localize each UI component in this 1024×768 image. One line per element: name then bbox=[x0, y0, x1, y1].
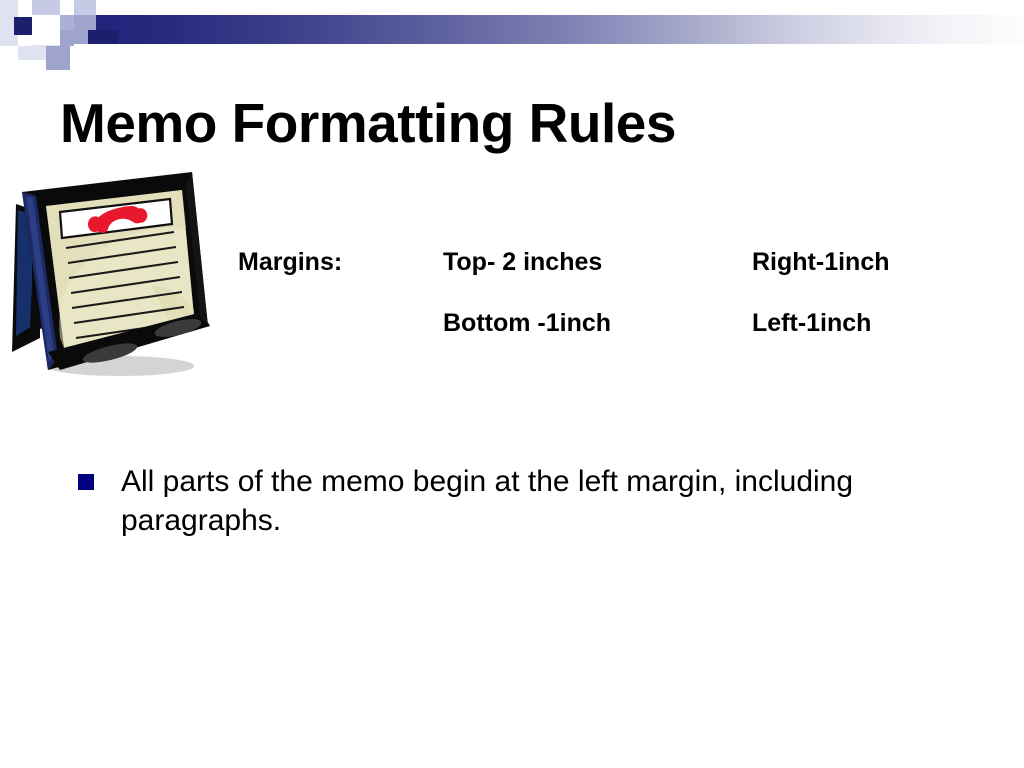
margin-bottom-value: Bottom -1inch bbox=[443, 293, 611, 354]
page-title: Memo Formatting Rules bbox=[60, 92, 676, 154]
deco-square-mid-1 bbox=[60, 15, 74, 30]
margin-right-value: Right-1inch bbox=[752, 232, 890, 293]
deco-square-white-1 bbox=[18, 0, 32, 14]
deco-square-white-2 bbox=[32, 15, 60, 45]
bullet-list: All parts of the memo begin at the left … bbox=[78, 462, 958, 540]
deco-square-white-4 bbox=[96, 0, 126, 15]
bullet-text: All parts of the memo begin at the left … bbox=[121, 462, 941, 540]
margin-left-value: Left-1inch bbox=[752, 293, 871, 354]
slide-canvas: Memo Formatting Rules bbox=[0, 0, 1024, 768]
telephone-message-pad-icon bbox=[2, 166, 214, 380]
deco-square-light-2 bbox=[74, 0, 96, 15]
deco-square-navy bbox=[14, 17, 32, 35]
deco-square-navy-2 bbox=[88, 30, 118, 44]
list-item: All parts of the memo begin at the left … bbox=[78, 462, 958, 540]
deco-square-light-1 bbox=[32, 0, 60, 15]
header-gradient-bar bbox=[88, 15, 1024, 44]
deco-square-mid-2 bbox=[60, 30, 74, 46]
deco-square-mid-3 bbox=[46, 46, 70, 70]
deco-square-white-3 bbox=[60, 0, 74, 15]
margin-top-value: Top- 2 inches bbox=[443, 232, 602, 293]
margins-label: Margins: bbox=[238, 232, 342, 293]
bullet-square-icon bbox=[78, 474, 94, 490]
header-decoration bbox=[0, 0, 1024, 72]
